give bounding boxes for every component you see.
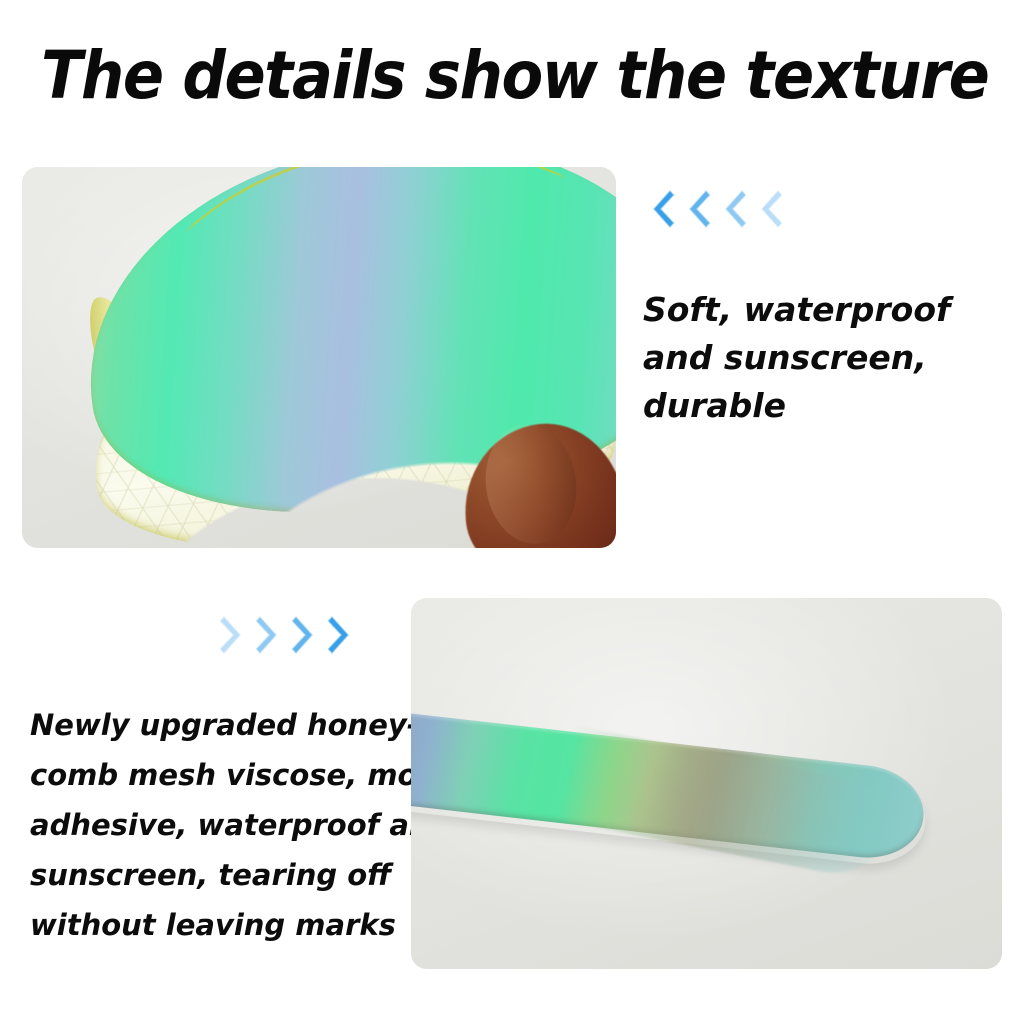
chevron-right-icon-1 — [216, 612, 250, 658]
chevron-left-icon-4 — [752, 186, 786, 232]
caption-line: comb mesh viscose, more — [30, 750, 405, 800]
chevrons-pointing-left — [644, 186, 786, 232]
chevron-left-icon-2 — [680, 186, 714, 232]
infographic-page: The details show the texture Soft, water… — [0, 0, 1024, 1024]
chevron-right-icon-4 — [324, 612, 358, 658]
page-title: The details show the texture — [41, 38, 983, 114]
caption-line: sunscreen, tearing off — [30, 850, 405, 900]
caption-line: Soft, waterproof — [643, 286, 1013, 334]
chevron-right-icon-3 — [288, 612, 322, 658]
caption-line: and sunscreen, — [643, 334, 1013, 382]
caption-line: Newly upgraded honey- — [30, 700, 405, 750]
caption-line: adhesive, waterproof and — [30, 800, 405, 850]
chevron-left-icon-1 — [644, 186, 678, 232]
caption-bottom-left: Newly upgraded honey- comb mesh viscose,… — [30, 700, 405, 950]
photo-flat-holographic-strip — [411, 598, 1002, 969]
caption-line: without leaving marks — [30, 900, 405, 950]
photo-looped-holographic-strip — [22, 167, 616, 548]
chevron-left-icon-3 — [716, 186, 750, 232]
caption-top-right: Soft, waterproof and sunscreen, durable — [643, 286, 1013, 430]
chevron-right-icon-2 — [252, 612, 286, 658]
chevrons-pointing-right — [216, 612, 358, 658]
caption-line: durable — [643, 382, 1013, 430]
